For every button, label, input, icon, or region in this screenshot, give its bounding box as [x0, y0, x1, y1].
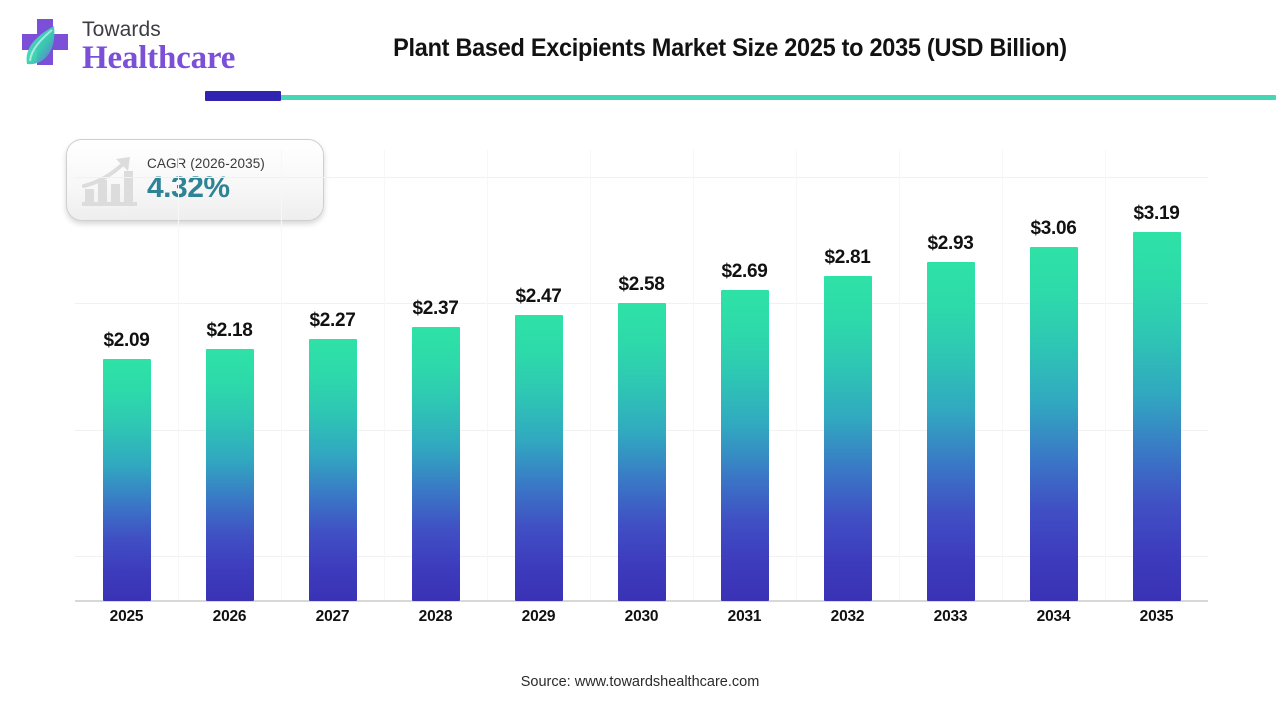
bar-group: $2.09	[75, 150, 178, 601]
x-axis-tick-label: 2032	[796, 608, 899, 626]
bar[interactable]	[412, 327, 460, 601]
bar-value-label: $2.37	[412, 298, 458, 320]
header-rule-teal	[205, 95, 1276, 100]
bar-group: $2.58	[590, 150, 693, 601]
bar[interactable]	[618, 303, 666, 601]
bar-value-label: $2.58	[618, 274, 664, 296]
bar[interactable]	[103, 359, 151, 601]
bar-series: $2.09$2.18$2.27$2.37$2.47$2.58$2.69$2.81…	[75, 150, 1208, 601]
bar-value-label: $3.19	[1133, 203, 1179, 225]
bar-group: $2.27	[281, 150, 384, 601]
bar-value-label: $2.81	[824, 247, 870, 269]
x-axis-tick-label: 2025	[75, 608, 178, 626]
bar[interactable]	[206, 349, 254, 601]
x-axis-tick-label: 2035	[1105, 608, 1208, 626]
source-note: Source: www.towardshealthcare.com	[0, 674, 1280, 690]
page-title: Plant Based Excipients Market Size 2025 …	[232, 34, 1228, 63]
bar-group: $2.18	[178, 150, 281, 601]
brand-name-line2: Healthcare	[82, 42, 235, 75]
bar[interactable]	[515, 315, 563, 601]
bar-value-label: $2.18	[206, 320, 252, 342]
cross-leaf-logo-icon	[16, 16, 74, 78]
bar-group: $2.93	[899, 150, 1002, 601]
bar-group: $2.69	[693, 150, 796, 601]
bar-value-label: $3.06	[1030, 218, 1076, 240]
chart-page: Towards Healthcare Plant Based Excipient…	[0, 0, 1280, 720]
bar[interactable]	[721, 290, 769, 601]
x-axis-labels: 2025202620272028202920302031203220332034…	[75, 608, 1208, 640]
bar[interactable]	[1133, 232, 1181, 601]
x-axis-tick-label: 2029	[487, 608, 590, 626]
bar-group: $2.81	[796, 150, 899, 601]
bar-group: $2.47	[487, 150, 590, 601]
bar-group: $3.06	[1002, 150, 1105, 601]
bar[interactable]	[927, 262, 975, 601]
x-axis-tick-label: 2033	[899, 608, 1002, 626]
brand-logo: Towards Healthcare	[16, 16, 235, 78]
x-axis-tick-label: 2030	[590, 608, 693, 626]
brand-name-line1: Towards	[82, 19, 235, 40]
header-rule-indigo	[205, 91, 281, 101]
chart-header: Towards Healthcare Plant Based Excipient…	[0, 0, 1280, 100]
bar-value-label: $2.09	[103, 330, 149, 352]
bar-group: $2.37	[384, 150, 487, 601]
brand-name: Towards Healthcare	[82, 19, 235, 75]
x-axis-tick-label: 2028	[384, 608, 487, 626]
bar-value-label: $2.27	[309, 310, 355, 332]
bar-group: $3.19	[1105, 150, 1208, 601]
bar-value-label: $2.93	[927, 233, 973, 255]
bar[interactable]	[309, 339, 357, 602]
bar-value-label: $2.47	[515, 286, 561, 308]
x-axis-tick-label: 2031	[693, 608, 796, 626]
x-axis-tick-label: 2027	[281, 608, 384, 626]
bar-value-label: $2.69	[721, 261, 767, 283]
x-axis-tick-label: 2034	[1002, 608, 1105, 626]
x-axis-tick-label: 2026	[178, 608, 281, 626]
bar[interactable]	[1030, 247, 1078, 601]
bar[interactable]	[824, 276, 872, 601]
